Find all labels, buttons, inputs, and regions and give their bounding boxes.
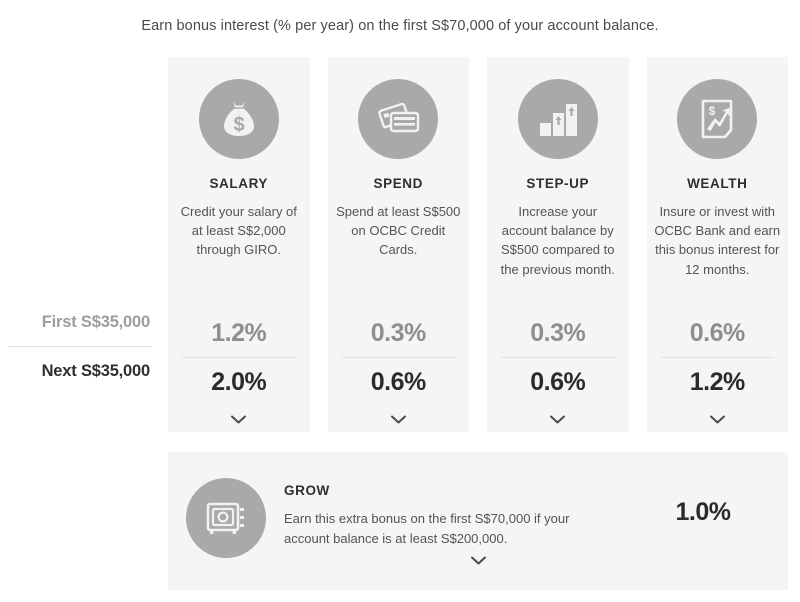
tier-rail: First S$35,000 Next S$35,000 [0, 298, 156, 395]
bonus-card-description: Spend at least S$500 on OCBC Credit Card… [335, 202, 461, 260]
bonus-card-rates: 1.2% 2.0% [168, 309, 310, 406]
tier-label-next: Next S$35,000 [0, 347, 156, 395]
bonus-card-description: Insure or invest with OCBC Bank and earn… [654, 202, 780, 279]
bonus-card-spend[interactable]: SPEND Spend at least S$500 on OCBC Credi… [328, 57, 470, 432]
bonus-card-wealth[interactable]: $ WEALTH Insure or invest with OCBC Bank… [647, 57, 789, 432]
bar-chart-up-icon [518, 79, 598, 159]
bonus-interest-panel: Earn bonus interest (% per year) on the … [0, 0, 800, 602]
tier-label-first: First S$35,000 [0, 298, 156, 346]
chevron-down-icon[interactable] [710, 406, 725, 432]
bonus-card-title: WEALTH [687, 176, 747, 191]
money-bag-icon: $ [199, 79, 279, 159]
rate-next-tier: 2.0% [182, 358, 296, 406]
rate-first-tier: 1.2% [182, 309, 296, 357]
bonus-card-title: SPEND [373, 176, 423, 191]
chevron-down-icon[interactable] [391, 406, 406, 432]
chevron-down-icon[interactable] [231, 406, 246, 432]
bonus-card-list: $ SALARY Credit your salary of at least … [168, 57, 788, 432]
rate-first-tier: 0.3% [501, 309, 615, 357]
svg-text:$: $ [709, 104, 716, 118]
bonus-card-grow[interactable]: GROW Earn this extra bonus on the first … [168, 452, 788, 590]
safe-vault-icon [186, 478, 266, 558]
svg-text:$: $ [233, 114, 244, 136]
rate-next-tier: 1.2% [661, 358, 775, 406]
rate-next-tier: 0.6% [501, 358, 615, 406]
bonus-card-description: Increase your account balance by S$500 c… [495, 202, 621, 279]
bonus-card-title: SALARY [209, 176, 268, 191]
chevron-down-icon[interactable] [168, 556, 788, 565]
credit-cards-icon [358, 79, 438, 159]
bonus-card-salary[interactable]: $ SALARY Credit your salary of at least … [168, 57, 310, 432]
bonus-card-rates: 0.6% 1.2% [647, 309, 789, 406]
bonus-card-step-up[interactable]: STEP-UP Increase your account balance by… [487, 57, 629, 432]
chevron-down-icon[interactable] [550, 406, 565, 432]
bonus-card-title: STEP-UP [526, 176, 589, 191]
grow-card-description: Earn this extra bonus on the first S$70,… [284, 509, 614, 548]
page-title: Earn bonus interest (% per year) on the … [0, 18, 800, 34]
grow-rate: 1.0% [618, 478, 788, 527]
document-growth-icon: $ [677, 79, 757, 159]
rate-next-tier: 0.6% [342, 358, 456, 406]
rate-first-tier: 0.6% [661, 309, 775, 357]
bonus-card-rates: 0.3% 0.6% [328, 309, 470, 406]
bonus-card-rates: 0.3% 0.6% [487, 309, 629, 406]
grow-card-title: GROW [284, 483, 618, 498]
rate-first-tier: 0.3% [342, 309, 456, 357]
bonus-card-description: Credit your salary of at least S$2,000 t… [176, 202, 302, 260]
